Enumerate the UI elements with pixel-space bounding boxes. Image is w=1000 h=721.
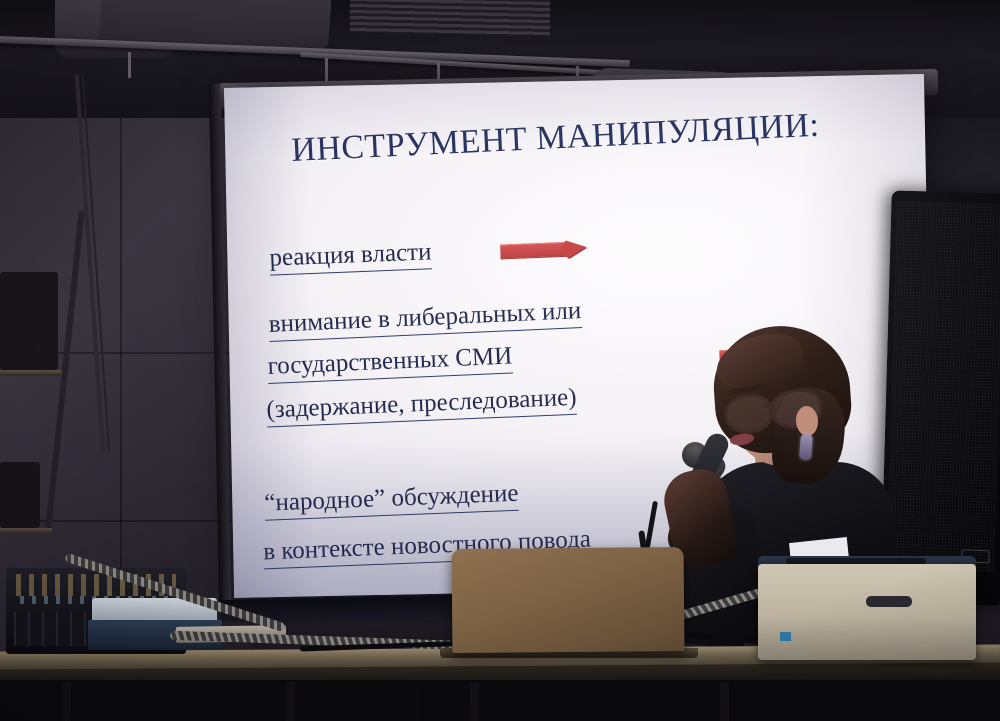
printer — [758, 564, 976, 660]
slide-bullet-5-text: “народное” обсуждение — [264, 480, 519, 521]
shelf-object — [0, 462, 40, 528]
slide-bullet-1: реакция власти — [269, 238, 432, 272]
slide-bullet-4-text: (задержание, преследование) — [266, 384, 577, 428]
under-table-shadow — [0, 680, 1000, 721]
shelf-object — [0, 272, 58, 370]
wall-seam — [120, 60, 122, 620]
table-leg — [470, 682, 479, 721]
photo-scene: ИНСТРУМЕНТ МАНИПУЛЯЦИИ: реакция власти в… — [0, 0, 1000, 721]
slide-bullet-2-text: внимание в либеральных или — [268, 297, 582, 342]
ceiling-vent-grill — [350, 0, 550, 36]
printer-status-led — [780, 632, 791, 641]
slide-bullet-2: внимание в либеральных или — [268, 297, 582, 339]
slide-bullet-3: государственных СМИ — [267, 343, 513, 381]
earring — [799, 434, 813, 461]
arrow-shaft — [500, 242, 569, 260]
apple-logo-icon:  — [556, 588, 582, 618]
wall-shelf — [0, 528, 52, 534]
red-arrow-right-icon — [500, 240, 501, 261]
wall-shelf — [0, 370, 62, 376]
table-leg — [286, 682, 295, 721]
table-leg — [62, 682, 71, 721]
ceiling-hanger — [128, 52, 131, 78]
slide-bullet-4: (задержание, преследование) — [266, 384, 577, 425]
slide-title: ИНСТРУМЕНТ МАНИПУЛЯЦИИ: — [290, 107, 820, 170]
slide-bullet-3-text: государственных СМИ — [267, 343, 513, 384]
arrow-head — [561, 236, 588, 261]
black-cable — [420, 684, 425, 721]
slide-bullet-1-text: реакция власти — [269, 238, 432, 275]
table-leg — [720, 682, 729, 721]
printer-handle — [866, 596, 912, 607]
slide-bullet-5: “народное” обсуждение — [264, 480, 519, 518]
